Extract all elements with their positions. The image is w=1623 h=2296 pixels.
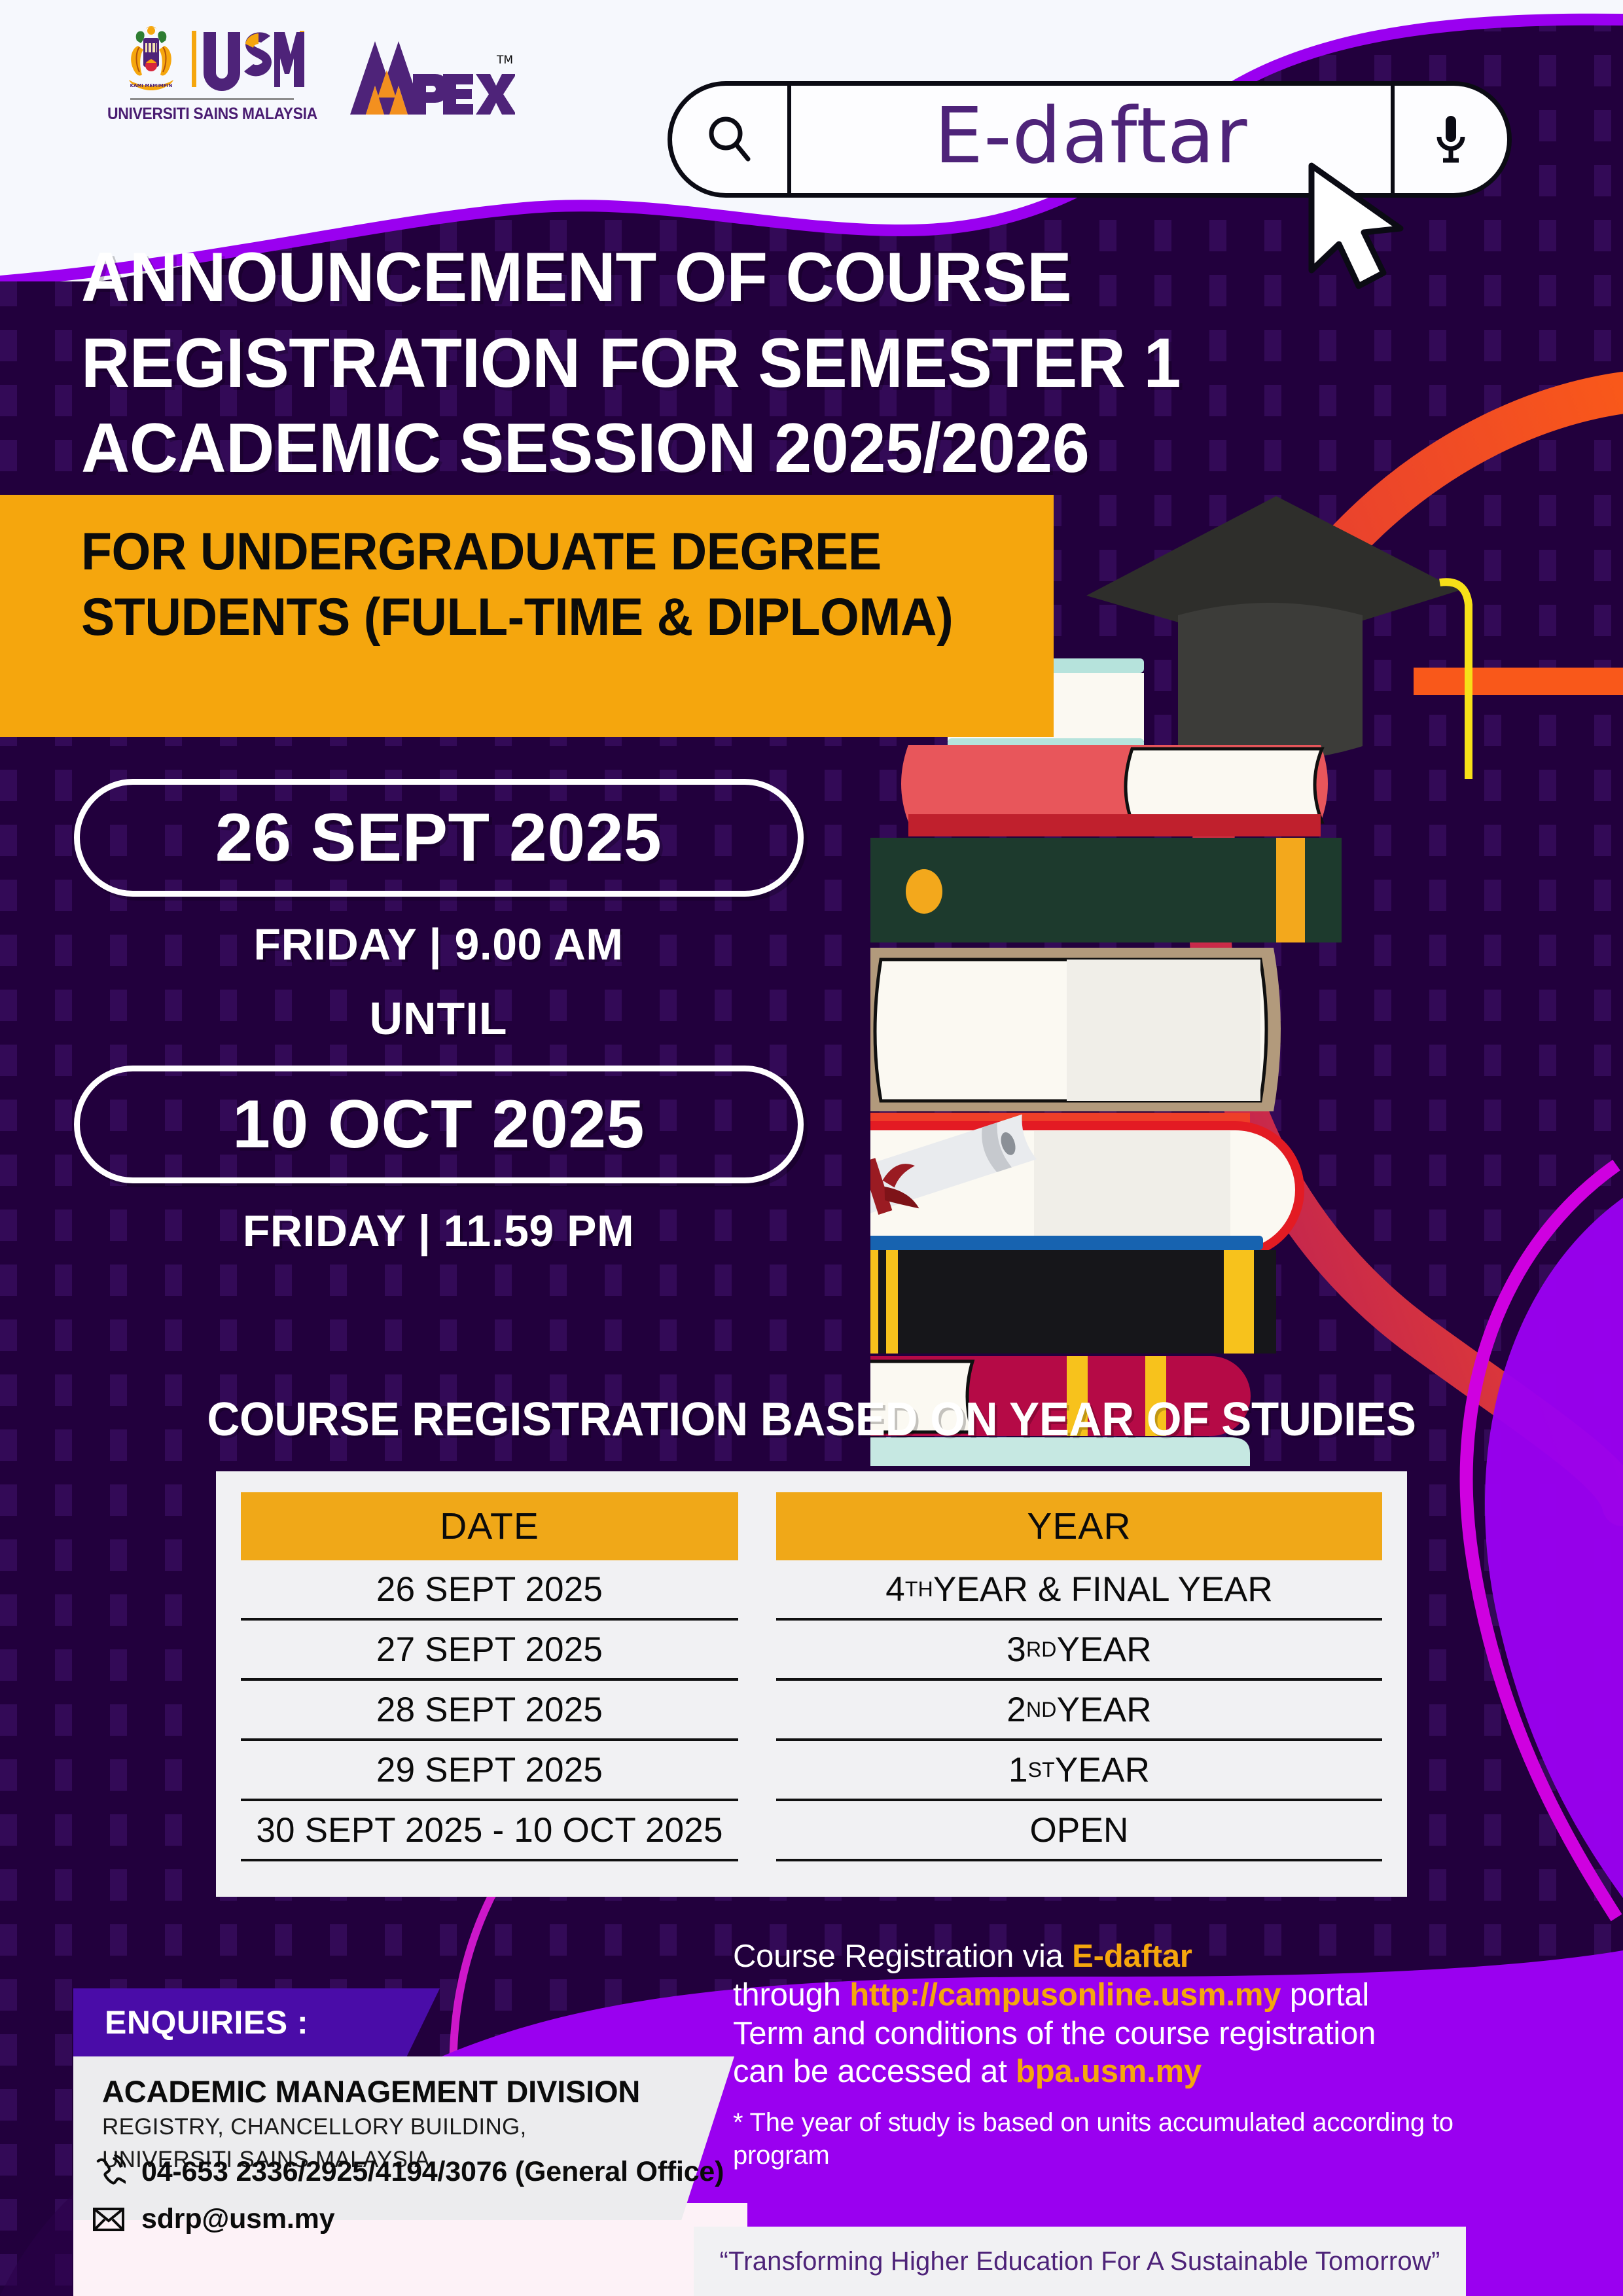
table-column-date: DATE 26 SEPT 2025 27 SEPT 2025 28 SEPT 2… xyxy=(241,1492,738,1880)
registration-table: DATE 26 SEPT 2025 27 SEPT 2025 28 SEPT 2… xyxy=(216,1471,1407,1897)
tagline-bar: “Transforming Higher Education For A Sus… xyxy=(694,2227,1466,2296)
year-num: 2 xyxy=(1007,1690,1026,1730)
table-header-year: YEAR xyxy=(776,1492,1382,1560)
info-line-3: Term and conditions of the course regist… xyxy=(733,2015,1505,2053)
enquiries-tab: ENQUIRIES : xyxy=(73,1988,440,2056)
separator-text: UNTIL xyxy=(0,992,877,1045)
table-row: OPEN xyxy=(776,1801,1382,1861)
terms-url[interactable]: bpa.usm.my xyxy=(1016,2054,1202,2089)
envelope-icon xyxy=(92,2205,126,2234)
search-input[interactable]: E-daftar xyxy=(791,86,1391,193)
usm-wordmark-icon xyxy=(192,28,304,91)
year-num: 1 xyxy=(1008,1750,1028,1790)
table-row: 26 SEPT 2025 xyxy=(241,1560,738,1621)
table-header-date: DATE xyxy=(241,1492,738,1560)
start-date-pill: 26 SEPT 2025 xyxy=(74,779,804,897)
info-line-1-accent: E-daftar xyxy=(1072,1939,1192,1974)
footnote-text: * The year of study is based on units ac… xyxy=(733,2107,1505,2172)
table-row: 1ST YEAR xyxy=(776,1741,1382,1801)
audience-band-text: FOR UNDERGRADUATE DEGREE STUDENTS (FULL-… xyxy=(81,520,1005,650)
mouse-cursor-icon xyxy=(1302,160,1412,291)
apex-tm-text: TM xyxy=(496,54,513,67)
info-line-1-plain: Course Registration via xyxy=(733,1939,1072,1974)
year-num: 3 xyxy=(1007,1630,1026,1670)
year-ordinal: ST xyxy=(1028,1758,1055,1782)
usm-logo: KAMI MEMIMPIN UNIVERSITI SAINS MALAYSIA xyxy=(98,25,327,124)
usm-divider xyxy=(130,98,294,100)
table-row: 3RD YEAR xyxy=(776,1621,1382,1681)
table-row: 2ND YEAR xyxy=(776,1681,1382,1741)
end-detail-text: FRIDAY | 11.59 PM xyxy=(0,1206,877,1257)
year-rest: YEAR xyxy=(1055,1750,1150,1790)
info-line-4: can be accessed at bpa.usm.my xyxy=(733,2053,1505,2091)
year-ordinal: RD xyxy=(1026,1638,1057,1662)
table-row: 4TH YEAR & FINAL YEAR xyxy=(776,1560,1382,1621)
apex-logo-icon: TM xyxy=(345,37,515,118)
year-num: 4 xyxy=(885,1570,905,1609)
usm-caption: UNIVERSITI SAINS MALAYSIA xyxy=(107,105,317,124)
info-line-4-plain: can be accessed at xyxy=(733,2054,1016,2089)
tagline-text: “Transforming Higher Education For A Sus… xyxy=(720,2247,1440,2276)
table-row: 29 SEPT 2025 xyxy=(241,1741,738,1801)
division-name: ACADEMIC MANAGEMENT DIVISION xyxy=(102,2073,640,2109)
registration-info: Course Registration via E-daftar through… xyxy=(733,1937,1505,2172)
info-line-2: through http://campusonline.usm.my porta… xyxy=(733,1976,1505,2015)
page-title: ANNOUNCEMENT OF COURSE REGISTRATION FOR … xyxy=(81,234,1275,491)
email-address[interactable]: sdrp@usm.my xyxy=(141,2203,334,2235)
year-rest: YEAR & FINAL YEAR xyxy=(933,1570,1273,1609)
enquiries-contact: 04-653 2336/2925/4194/3076 (General Offi… xyxy=(92,2155,724,2235)
phone-icon xyxy=(92,2155,126,2189)
phone-row: 04-653 2336/2925/4194/3076 (General Offi… xyxy=(92,2155,724,2189)
info-line-1: Course Registration via E-daftar xyxy=(733,1937,1505,1976)
audience-band: FOR UNDERGRADUATE DEGREE STUDENTS (FULL-… xyxy=(0,495,1054,737)
svg-text:KAMI MEMIMPIN: KAMI MEMIMPIN xyxy=(130,83,173,88)
table-column-year: YEAR 4TH YEAR & FINAL YEAR 3RD YEAR 2ND … xyxy=(776,1492,1382,1880)
usm-crest-icon: KAMI MEMIMPIN xyxy=(120,25,183,94)
start-detail-text: FRIDAY | 9.00 AM xyxy=(0,919,877,970)
info-line-2-plain: through xyxy=(733,1977,849,2013)
table-row: 30 SEPT 2025 - 10 OCT 2025 xyxy=(241,1801,738,1861)
year-ordinal: ND xyxy=(1026,1698,1057,1722)
end-date-text: 10 OCT 2025 xyxy=(232,1086,645,1164)
logo-row: KAMI MEMIMPIN UNIVERSITI SAINS MALAYSIA xyxy=(98,25,515,124)
start-date-text: 26 SEPT 2025 xyxy=(215,799,662,877)
search-icon[interactable] xyxy=(672,86,791,193)
schedule-block: 26 SEPT 2025 FRIDAY | 9.00 AM UNTIL 10 O… xyxy=(0,779,877,1257)
portal-url[interactable]: http://campusonline.usm.my xyxy=(849,1977,1281,2013)
year-rest: YEAR xyxy=(1057,1630,1152,1670)
year-rest: OPEN xyxy=(1029,1810,1128,1850)
phone-number: 04-653 2336/2925/4194/3076 (General Offi… xyxy=(141,2156,724,2188)
search-input-value: E-daftar xyxy=(935,90,1248,181)
table-section-title: COURSE REGISTRATION BASED ON YEAR OF STU… xyxy=(33,1393,1591,1446)
year-ordinal: TH xyxy=(905,1577,933,1602)
email-row: sdrp@usm.my xyxy=(92,2203,724,2235)
info-line-2-tail: portal xyxy=(1281,1977,1369,2013)
table-row: 27 SEPT 2025 xyxy=(241,1621,738,1681)
end-date-pill: 10 OCT 2025 xyxy=(74,1066,804,1183)
table-row: 28 SEPT 2025 xyxy=(241,1681,738,1741)
year-rest: YEAR xyxy=(1057,1690,1152,1730)
enquiries-tab-label: ENQUIRIES : xyxy=(105,2003,308,2041)
poster-canvas: KAMI MEMIMPIN UNIVERSITI SAINS MALAYSIA xyxy=(0,0,1623,2296)
address-line-1: REGISTRY, CHANCELLORY BUILDING, xyxy=(102,2112,640,2142)
